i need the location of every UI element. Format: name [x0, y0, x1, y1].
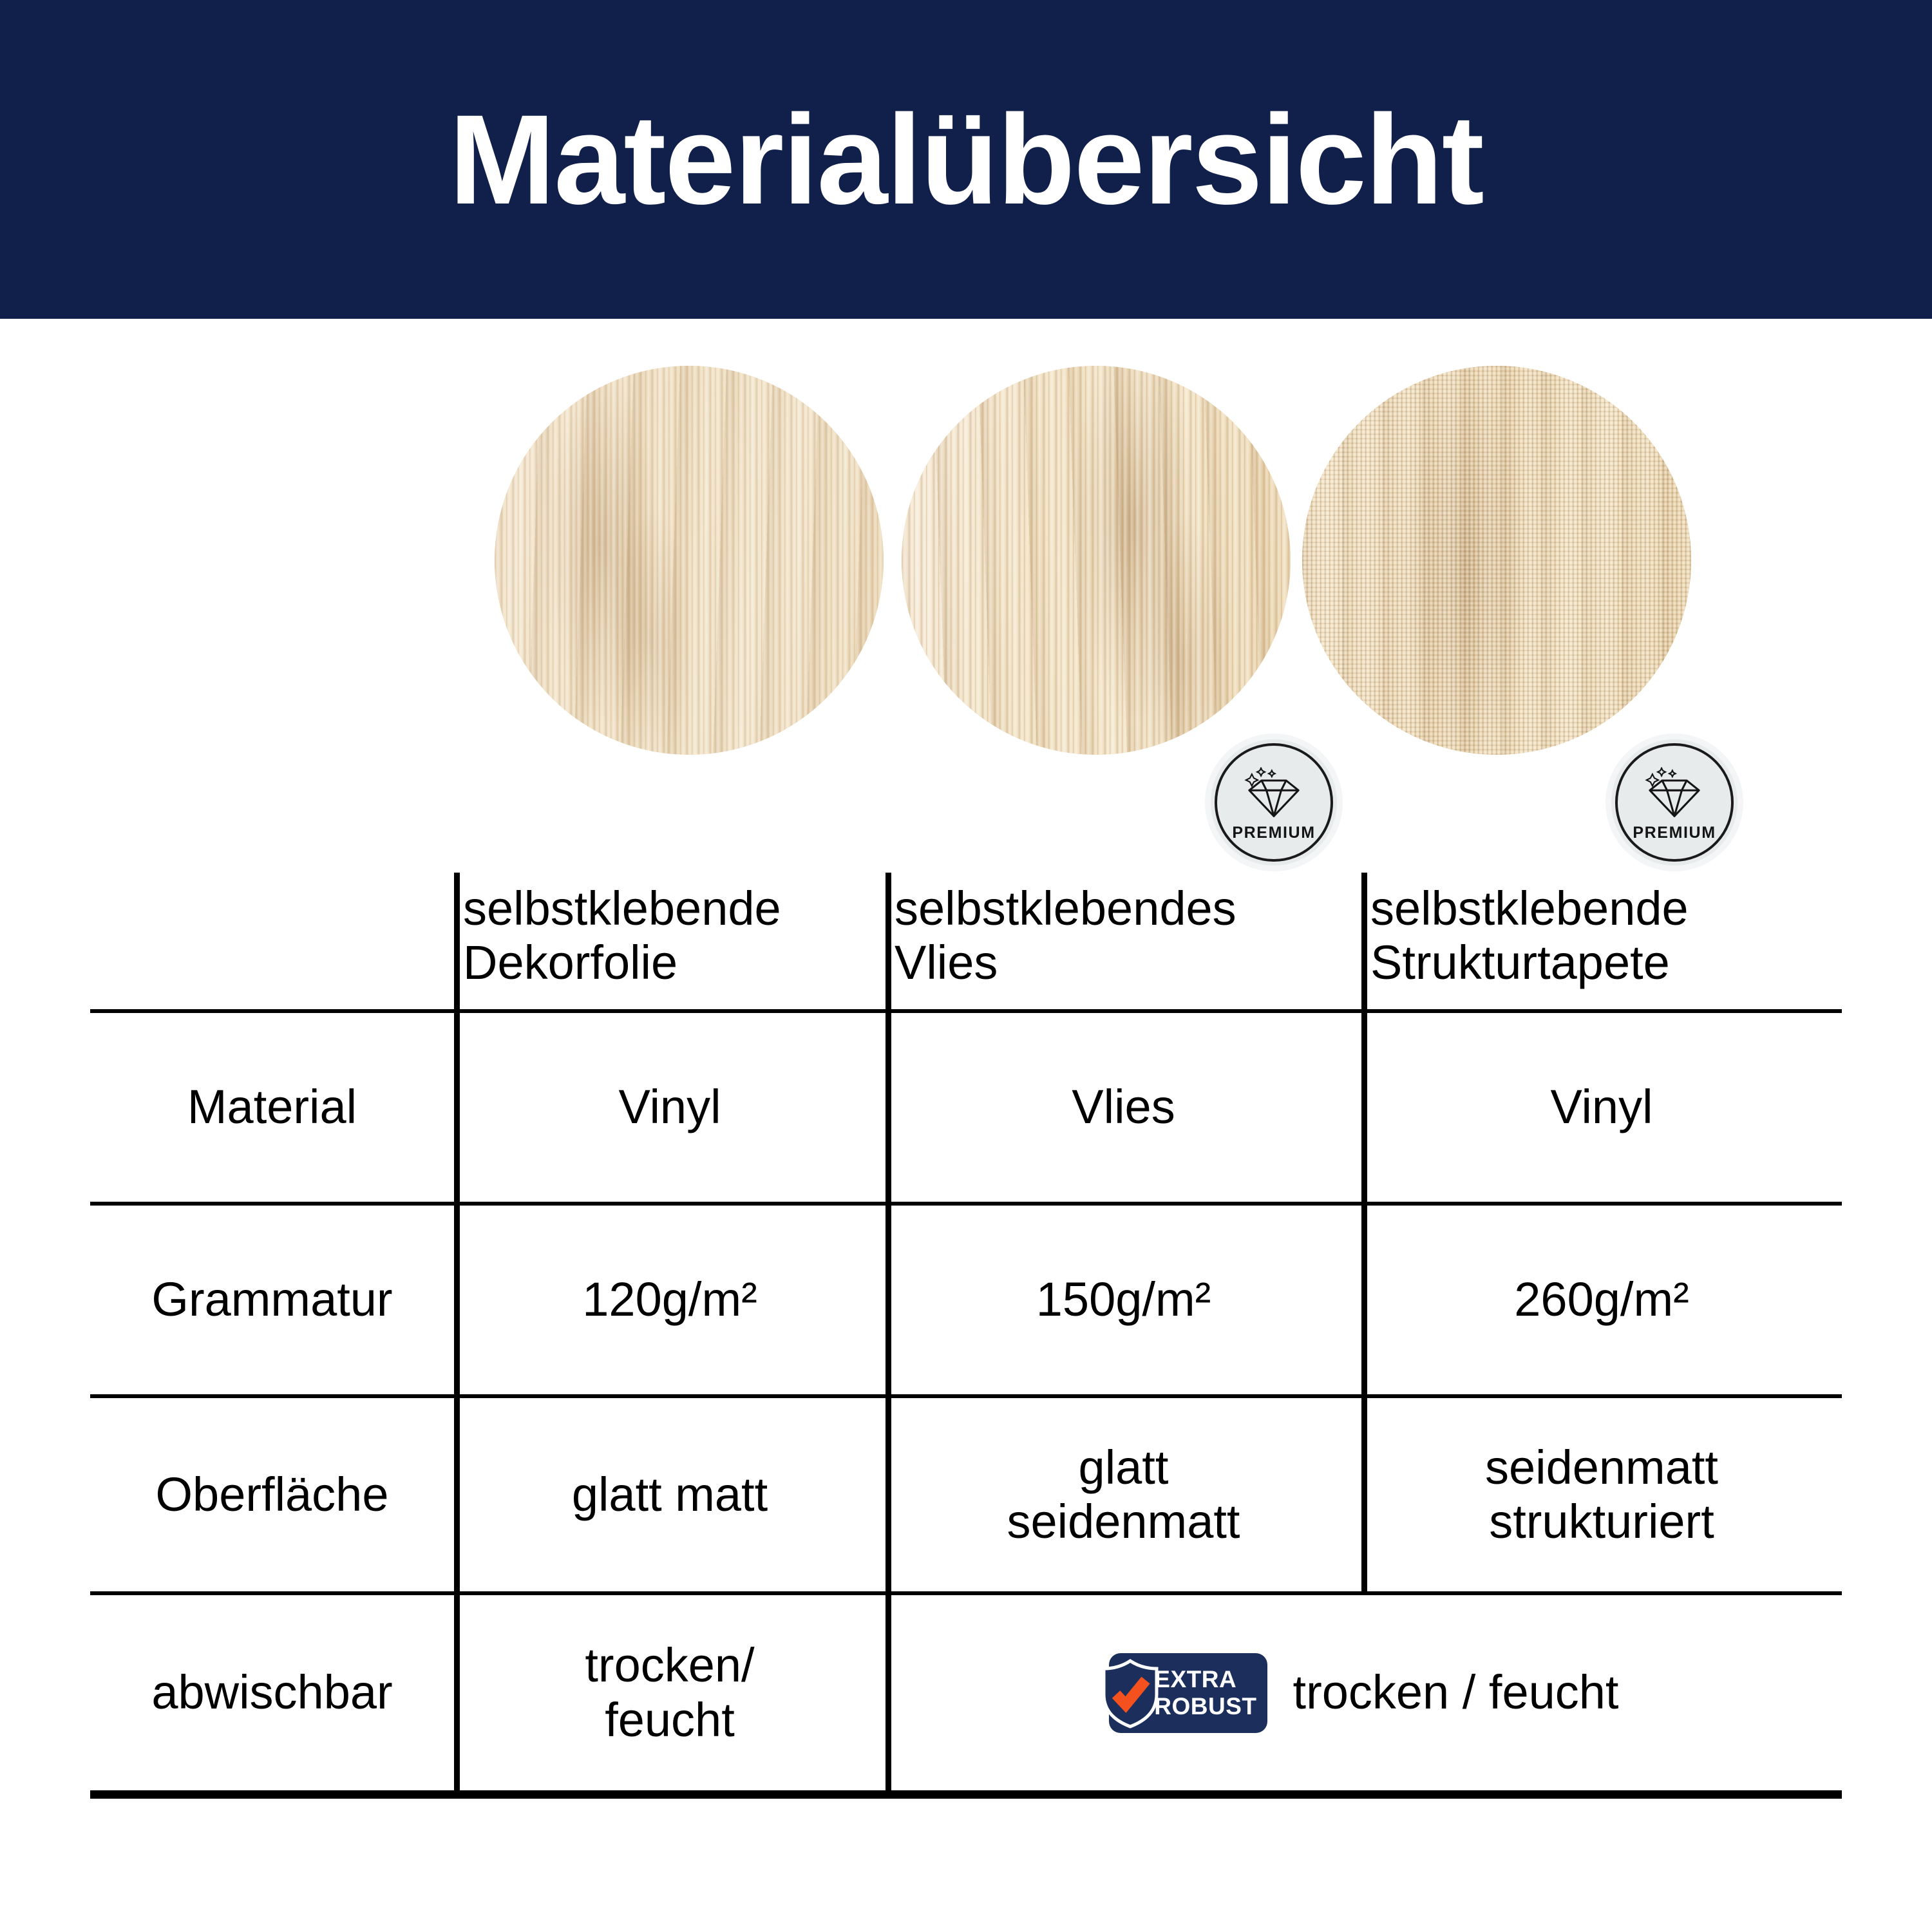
column-divider-1	[454, 1013, 460, 1202]
swatch-vlies[interactable]	[902, 366, 1291, 755]
table-rule-bottom	[90, 1790, 1842, 1799]
column-divider-1	[454, 1206, 460, 1394]
column-header-line-2: Dekorfolie	[463, 936, 677, 989]
column-divider-2	[885, 1013, 891, 1202]
premium-badge-label: PREMIUM	[1633, 824, 1716, 842]
cell-abwischbar-dekorfolie: trocken/ feucht	[454, 1595, 885, 1790]
cell-material-vlies: Vlies	[885, 1013, 1361, 1202]
column-divider-3	[1361, 873, 1367, 1009]
cell-line-2: strukturiert	[1485, 1495, 1718, 1549]
cell-abwischbar-merged-text: trocken / feucht	[1293, 1665, 1619, 1719]
column-divider-1	[454, 873, 460, 1009]
column-divider-1	[454, 1398, 460, 1591]
extra-robust-badge: EXTRA ROBUST	[1109, 1653, 1267, 1733]
cell-line-2: seidenmatt	[1007, 1495, 1240, 1549]
column-header-vlies: selbstklebendes Vlies	[885, 873, 1361, 1009]
table-row-material: Material Vinyl Vlies Vinyl	[90, 1013, 1842, 1202]
material-overview-page: Materialübersicht	[0, 0, 1932, 1932]
cell-line-2: feucht	[585, 1693, 754, 1747]
cell-oberflaeche-dekorfolie: glatt matt	[454, 1398, 885, 1591]
table-row-abwischbar: abwischbar trocken/ feucht EXTRA	[90, 1595, 1842, 1790]
cell-material-strukturtapete: Vinyl	[1361, 1013, 1842, 1202]
cell-oberflaeche-vlies: glatt seidenmatt	[885, 1398, 1361, 1591]
diamond-icon	[1242, 767, 1305, 820]
wood-texture-strukturtapete	[1302, 366, 1691, 755]
material-spec-table: selbstklebende Dekorfolie selbstklebende…	[90, 873, 1842, 1799]
premium-badge-label: PREMIUM	[1232, 824, 1315, 842]
robust-badge-line-1: EXTRA	[1154, 1667, 1236, 1691]
wood-texture-dekorfolie	[495, 366, 884, 755]
column-header-line-2: Vlies	[895, 936, 998, 989]
column-divider-1	[454, 1595, 460, 1790]
column-divider-2	[885, 873, 891, 1009]
cell-oberflaeche-strukturtapete: seidenmatt strukturiert	[1361, 1398, 1842, 1591]
swatch-strukturtapete[interactable]	[1302, 366, 1691, 755]
column-header-line-1: selbstklebendes	[895, 882, 1236, 935]
row-label-grammatur: Grammatur	[90, 1206, 454, 1394]
column-divider-3	[1361, 1206, 1367, 1394]
column-divider-2	[885, 1398, 891, 1591]
column-divider-3	[1361, 1013, 1367, 1202]
swatch-dekorfolie[interactable]	[495, 366, 884, 755]
wood-texture-vlies	[902, 366, 1291, 755]
premium-badge-vlies: PREMIUM	[1211, 739, 1337, 866]
table-row-grammatur: Grammatur 120g/m² 150g/m² 260g/m²	[90, 1206, 1842, 1394]
column-divider-2	[885, 1595, 891, 1790]
column-header-line-1: selbstklebende	[1370, 882, 1689, 935]
page-title: Materialübersicht	[449, 96, 1483, 223]
table-header-row: selbstklebende Dekorfolie selbstklebende…	[90, 873, 1842, 1009]
cell-line-1: seidenmatt	[1485, 1441, 1718, 1495]
column-divider-3	[1361, 1398, 1367, 1591]
column-header-line-2: Strukturtapete	[1370, 936, 1670, 989]
column-header-strukturtapete: selbstklebende Strukturtapete	[1361, 873, 1842, 1009]
cell-line-1: glatt	[1007, 1441, 1240, 1495]
column-header-line-1: selbstklebende	[463, 882, 781, 935]
cell-abwischbar-merged: EXTRA ROBUST trocken / feucht	[885, 1595, 1842, 1790]
swatch-row: PREMIUM PREMIUM	[0, 366, 1932, 759]
table-row-oberflaeche: Oberfläche glatt matt glatt seidenmatt s…	[90, 1398, 1842, 1591]
diamond-icon	[1643, 767, 1706, 820]
table-corner-cell	[90, 873, 454, 1009]
cell-grammatur-strukturtapete: 260g/m²	[1361, 1206, 1842, 1394]
premium-badge-strukturtapete: PREMIUM	[1611, 739, 1738, 866]
row-label-oberflaeche: Oberfläche	[90, 1398, 454, 1591]
cell-line-1: trocken/	[585, 1638, 754, 1692]
page-header: Materialübersicht	[0, 0, 1932, 319]
row-label-material: Material	[90, 1013, 454, 1202]
cell-grammatur-dekorfolie: 120g/m²	[454, 1206, 885, 1394]
cell-line-1: glatt matt	[572, 1468, 768, 1522]
cell-grammatur-vlies: 150g/m²	[885, 1206, 1361, 1394]
cell-material-dekorfolie: Vinyl	[454, 1013, 885, 1202]
column-divider-2	[885, 1206, 891, 1394]
column-header-dekorfolie: selbstklebende Dekorfolie	[454, 873, 885, 1009]
robust-badge-line-2: ROBUST	[1154, 1694, 1256, 1718]
row-label-abwischbar: abwischbar	[90, 1595, 454, 1790]
shield-check-icon	[1099, 1658, 1162, 1729]
